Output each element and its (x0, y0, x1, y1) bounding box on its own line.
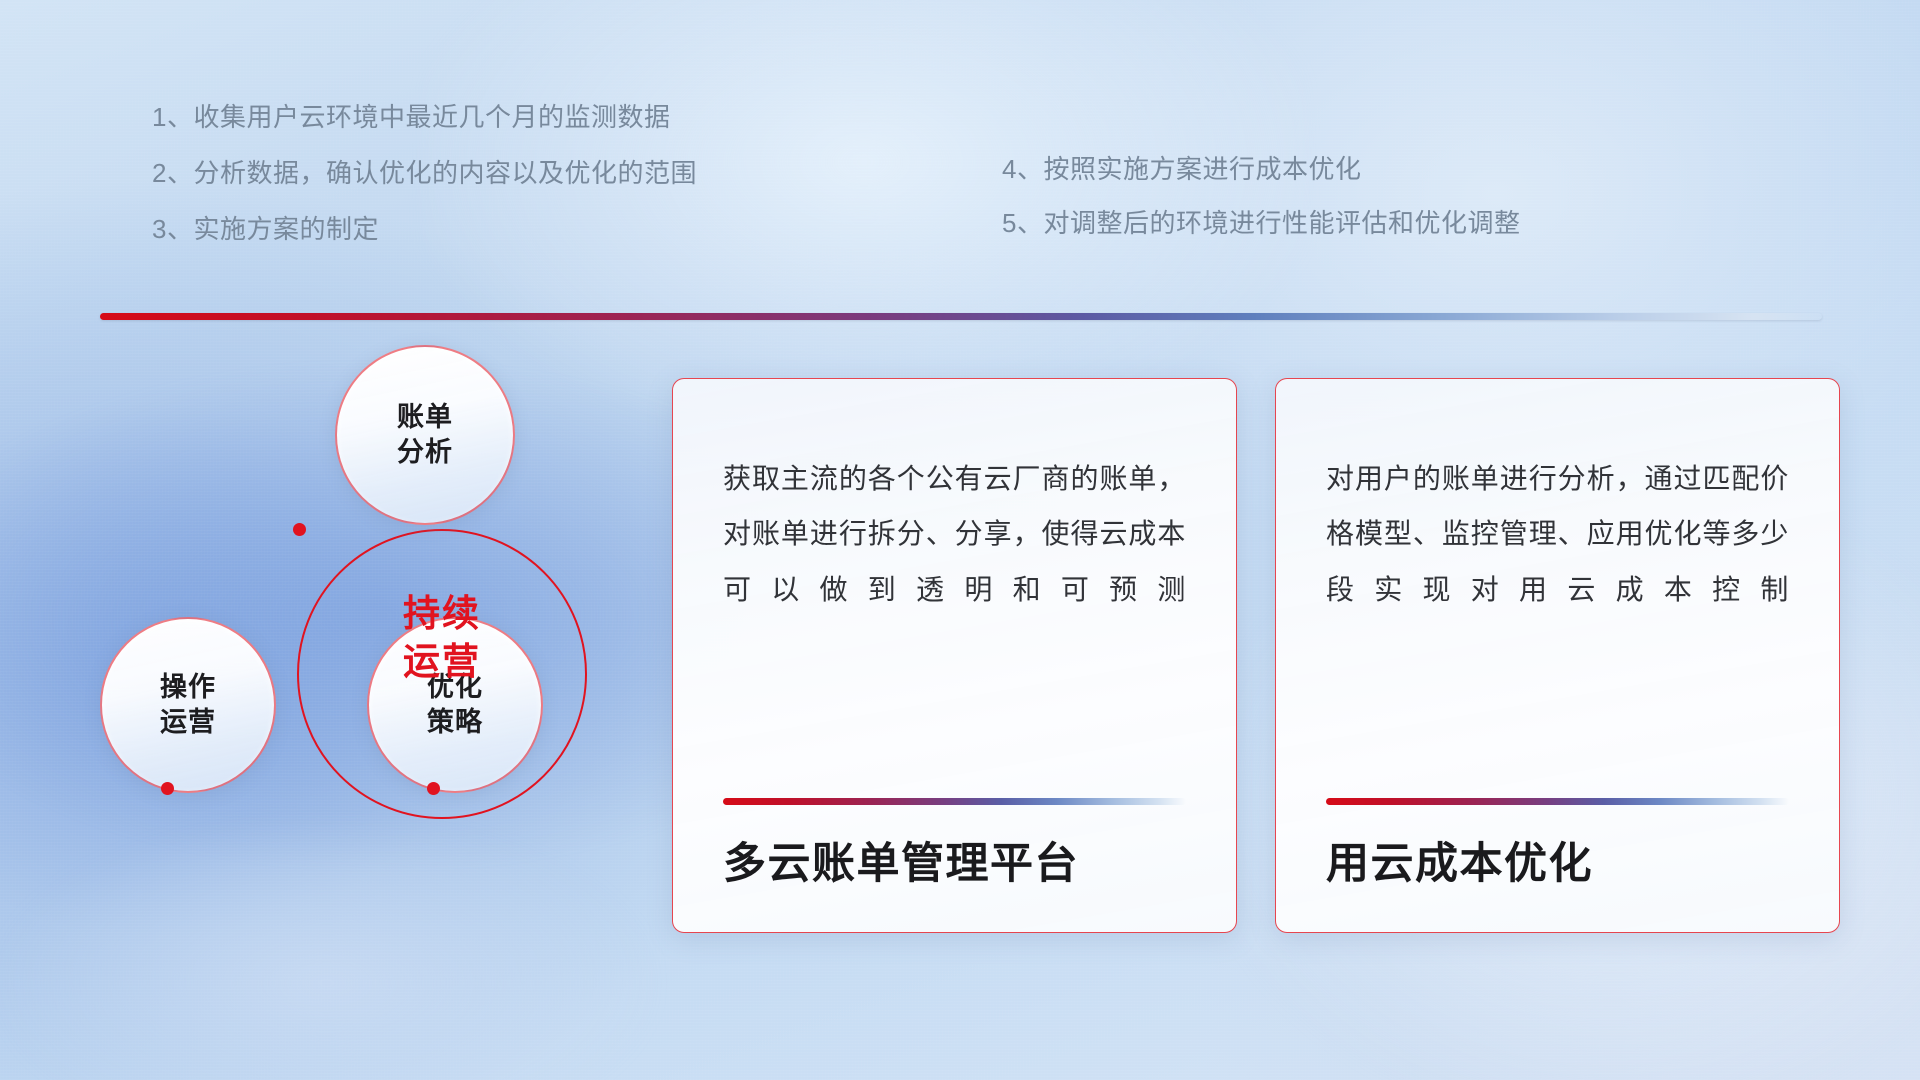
header-divider (100, 313, 1822, 320)
card-divider (723, 798, 1186, 805)
step-item-4: 4、按照实施方案进行成本优化 (1002, 156, 1520, 182)
steps-list-left: 1、收集用户云环境中最近几个月的监测数据 2、分析数据，确认优化的内容以及优化的… (152, 104, 697, 242)
diagram-center-label: 持续 运营 (297, 590, 587, 686)
steps-list-right: 4、按照实施方案进行成本优化 5、对调整后的环境进行性能评估和优化调整 (1002, 156, 1520, 264)
card-body-text: 获取主流的各个公有云厂商的账单，对账单进行拆分、分享，使得云成本可以做到透明和可… (723, 451, 1186, 617)
bubble-label-line2: 策略 (427, 705, 483, 740)
step-item-2: 2、分析数据，确认优化的内容以及优化的范围 (152, 160, 697, 186)
step-item-5: 5、对调整后的环境进行性能评估和优化调整 (1002, 210, 1520, 236)
connector-dot-top (293, 523, 306, 536)
bubble-label-line2: 运营 (160, 705, 216, 740)
bubble-label-line1: 操作 (160, 670, 216, 705)
connector-dot-right (427, 782, 440, 795)
card-multicloud-billing-platform[interactable]: 获取主流的各个公有云厂商的账单，对账单进行拆分、分享，使得云成本可以做到透明和可… (672, 378, 1237, 933)
step-item-3: 3、实施方案的制定 (152, 216, 697, 242)
center-label-line1: 持续 (297, 590, 587, 638)
slide-canvas: 1、收集用户云环境中最近几个月的监测数据 2、分析数据，确认优化的内容以及优化的… (0, 0, 1920, 1080)
bubble-label-line1: 账单 (397, 400, 453, 435)
card-title: 用云成本优化 (1326, 805, 1789, 932)
step-item-1: 1、收集用户云环境中最近几个月的监测数据 (152, 104, 697, 130)
bubble-bill-analysis[interactable]: 账单 分析 (335, 345, 515, 525)
card-body-text: 对用户的账单进行分析，通过匹配价格模型、监控管理、应用优化等多少段实现对用云成本… (1326, 451, 1789, 617)
continuous-operation-diagram: 持续 运营 账单 分析 操作 运营 优化 策略 (105, 355, 665, 940)
center-label-line2: 运营 (297, 638, 587, 686)
connector-dot-left (161, 782, 174, 795)
bubble-operation[interactable]: 操作 运营 (100, 617, 276, 793)
bubble-label-line2: 分析 (397, 435, 453, 470)
card-cloud-cost-optimization[interactable]: 对用户的账单进行分析，通过匹配价格模型、监控管理、应用优化等多少段实现对用云成本… (1275, 378, 1840, 933)
card-title: 多云账单管理平台 (723, 805, 1186, 932)
card-divider (1326, 798, 1789, 805)
